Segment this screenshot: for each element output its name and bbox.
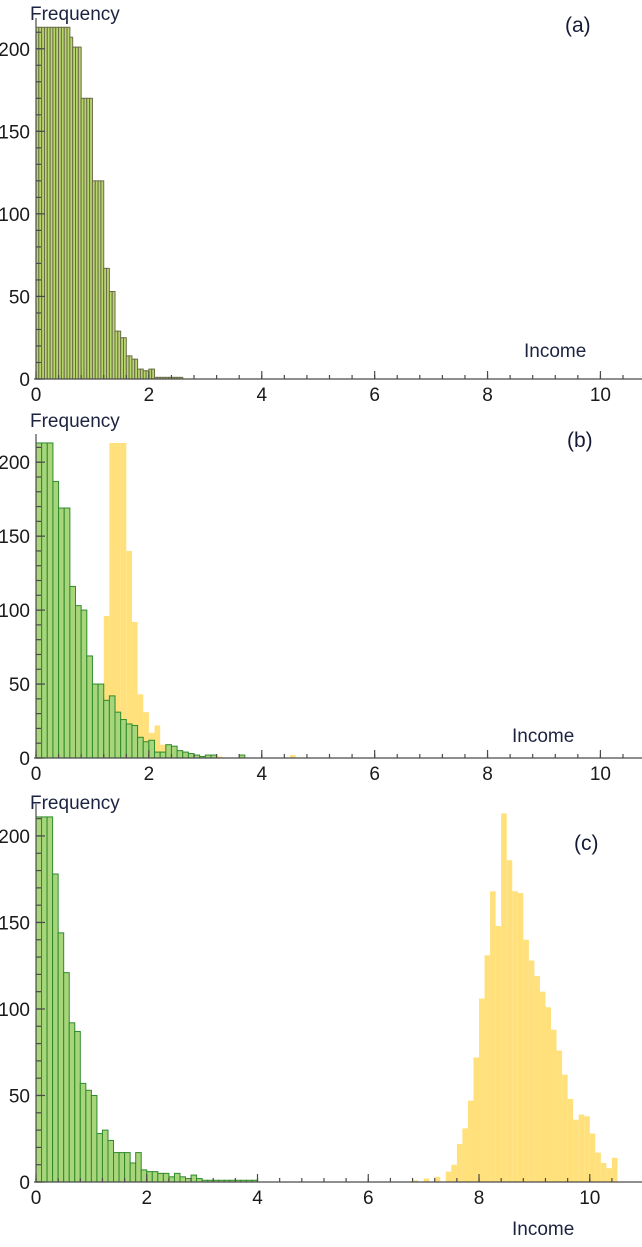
panel-a-xlabel: Income xyxy=(524,341,586,362)
histogram-bar xyxy=(446,1172,452,1182)
histogram-bar xyxy=(601,1163,607,1182)
chart-panel-c: 0246810050100150200 Frequency Income (c) xyxy=(0,785,642,1247)
panel-b-ylabel: Frequency xyxy=(30,411,120,432)
histogram-bar xyxy=(501,813,507,1182)
histogram-bar xyxy=(87,656,93,758)
panel-b-svg: 0246810050100150200 Frequency Income (b) xyxy=(0,405,642,785)
histogram-bar xyxy=(75,1031,81,1182)
histogram-bar xyxy=(180,1177,186,1182)
histogram-bar xyxy=(462,1128,468,1182)
histogram-bar xyxy=(92,684,98,758)
panel-a-tag: (a) xyxy=(565,14,591,37)
y-tick-label: 50 xyxy=(9,675,30,696)
x-tick-label: 8 xyxy=(482,385,493,405)
histogram-bar xyxy=(138,737,144,758)
histogram-bar xyxy=(47,817,53,1182)
histogram-bar xyxy=(64,973,70,1182)
histogram-bar xyxy=(568,1099,574,1182)
figure-root: 0246810050100150200 Frequency Income (a)… xyxy=(0,0,642,1247)
histogram-bar xyxy=(171,746,177,758)
y-tick-label: 0 xyxy=(19,370,30,391)
y-tick-label: 50 xyxy=(9,1086,30,1107)
histogram-bar xyxy=(169,1177,175,1182)
panel-a-svg: 0246810050100150200 Frequency Income (a) xyxy=(0,0,642,405)
histogram-bar xyxy=(70,586,76,758)
y-tick-label: 150 xyxy=(0,122,30,143)
histogram-bar xyxy=(451,1165,457,1182)
histogram-bar xyxy=(166,745,172,758)
histogram-bar xyxy=(584,1116,590,1182)
histogram-bar xyxy=(606,1168,612,1182)
histogram-bar xyxy=(557,1051,563,1182)
y-tick-label: 100 xyxy=(0,205,30,226)
histogram-bar xyxy=(81,610,87,758)
histogram-bar xyxy=(130,1163,136,1182)
histogram-bar xyxy=(47,443,53,758)
histogram-bar xyxy=(53,874,59,1182)
histogram-bar xyxy=(490,891,496,1182)
panel-c-tag: (c) xyxy=(574,832,599,855)
y-tick-label: 150 xyxy=(0,527,30,548)
histogram-bar xyxy=(91,1095,97,1182)
histogram-bar xyxy=(612,1158,618,1182)
histogram-bar xyxy=(36,817,42,1182)
y-tick-label: 200 xyxy=(0,40,30,61)
histogram-bar xyxy=(163,1173,169,1182)
histogram-bar xyxy=(42,443,48,758)
histogram-bar xyxy=(125,1153,131,1182)
x-tick-label: 4 xyxy=(256,385,267,405)
histogram-bar xyxy=(160,752,166,758)
panel-c-xlabel: Income xyxy=(512,1219,574,1240)
histogram-bar xyxy=(435,1177,441,1182)
histogram-bar xyxy=(188,754,194,758)
histogram-bar xyxy=(108,1140,114,1182)
histogram-bar xyxy=(147,1172,153,1182)
histogram-bar xyxy=(121,720,127,758)
histogram-bar xyxy=(573,1120,579,1182)
histogram-bar xyxy=(104,700,110,758)
histogram-bar xyxy=(485,955,491,1182)
histogram-bar xyxy=(149,740,155,758)
x-tick-label: 2 xyxy=(144,764,155,785)
panel-b-xlabel: Income xyxy=(512,726,574,747)
histogram-bar xyxy=(479,999,485,1182)
panel-c-series-income-green xyxy=(36,817,258,1182)
histogram-bar xyxy=(97,1134,103,1182)
histogram-bar xyxy=(69,1023,75,1182)
histogram-bar xyxy=(496,926,502,1182)
x-tick-label: 8 xyxy=(474,1188,485,1209)
histogram-bar xyxy=(158,1173,164,1182)
y-tick-label: 0 xyxy=(19,1173,30,1194)
x-tick-label: 0 xyxy=(31,385,42,405)
histogram-bar xyxy=(80,1083,86,1182)
histogram-bar xyxy=(152,1172,158,1182)
histogram-bar xyxy=(76,606,82,758)
x-tick-label: 4 xyxy=(256,764,267,785)
x-tick-label: 10 xyxy=(590,385,611,405)
histogram-bar xyxy=(457,1144,463,1182)
panel-c-plot: 0246810050100150200 xyxy=(0,804,642,1209)
x-tick-label: 6 xyxy=(369,385,380,405)
histogram-bar xyxy=(529,961,535,1182)
x-tick-label: 10 xyxy=(579,1188,600,1209)
panel-b-tag: (b) xyxy=(567,429,593,452)
y-tick-label: 50 xyxy=(9,287,30,308)
histogram-bar xyxy=(143,742,149,758)
x-tick-label: 2 xyxy=(141,1188,152,1209)
histogram-bar xyxy=(523,940,529,1182)
x-tick-label: 2 xyxy=(144,385,155,405)
histogram-bar xyxy=(64,508,70,758)
histogram-bar xyxy=(141,1170,147,1182)
histogram-bar xyxy=(177,751,183,758)
y-tick-label: 100 xyxy=(0,1000,30,1021)
histogram-bar xyxy=(136,1153,142,1182)
histogram-bar xyxy=(473,1057,479,1182)
histogram-bar xyxy=(468,1101,474,1182)
histogram-bar xyxy=(545,1007,551,1182)
histogram-bar xyxy=(132,725,138,758)
histogram-bar xyxy=(102,1130,108,1182)
y-tick-label: 200 xyxy=(0,453,30,474)
histogram-bar xyxy=(579,1115,585,1182)
histogram-bar xyxy=(562,1075,568,1182)
panel-a-series-income-green xyxy=(36,27,183,379)
histogram-bar xyxy=(507,860,513,1182)
histogram-bar xyxy=(86,1090,92,1182)
histogram-bar xyxy=(115,443,121,758)
x-tick-label: 4 xyxy=(252,1188,263,1209)
y-tick-label: 0 xyxy=(19,749,30,770)
histogram-bar xyxy=(119,1153,125,1182)
histogram-bar xyxy=(98,684,104,758)
panel-c-series-income-yellow-lognormal xyxy=(413,813,618,1182)
histogram-bar xyxy=(551,1030,557,1182)
y-tick-label: 150 xyxy=(0,913,30,934)
histogram-bar xyxy=(42,817,48,1182)
histogram-bar xyxy=(36,443,42,758)
chart-panel-b: 0246810050100150200 Frequency Income (b) xyxy=(0,405,642,785)
histogram-bar xyxy=(191,1175,197,1182)
histogram-bar xyxy=(59,508,65,758)
y-tick-label: 200 xyxy=(0,827,30,848)
histogram-bar xyxy=(518,893,524,1182)
x-tick-label: 0 xyxy=(31,1188,42,1209)
histogram-bar xyxy=(183,752,189,758)
histogram-bar xyxy=(512,891,518,1182)
x-tick-label: 6 xyxy=(369,764,380,785)
chart-panel-a: 0246810050100150200 Frequency Income (a) xyxy=(0,0,642,405)
histogram-bar xyxy=(595,1153,601,1182)
panel-b-series-income-yellow-shifted xyxy=(104,443,296,758)
histogram-bar xyxy=(155,752,161,758)
histogram-bar xyxy=(114,1153,120,1182)
histogram-bar xyxy=(121,443,127,758)
histogram-bar xyxy=(109,696,115,758)
histogram-bar xyxy=(590,1134,596,1182)
histogram-bar xyxy=(540,992,546,1182)
x-tick-label: 6 xyxy=(363,1188,374,1209)
histogram-bar xyxy=(53,481,59,758)
x-tick-label: 0 xyxy=(31,764,42,785)
histogram-bar xyxy=(115,712,121,758)
panel-a-ylabel: Frequency xyxy=(30,4,120,25)
y-tick-label: 100 xyxy=(0,601,30,622)
histogram-bar xyxy=(534,976,540,1182)
histogram-bar xyxy=(58,933,64,1182)
panel-c-svg: 0246810050100150200 Frequency Income (c) xyxy=(0,785,642,1247)
histogram-bar xyxy=(174,1173,180,1182)
histogram-bar xyxy=(126,724,132,758)
x-tick-label: 8 xyxy=(482,764,493,785)
panel-c-ylabel: Frequency xyxy=(30,793,120,814)
x-tick-label: 10 xyxy=(590,764,611,785)
